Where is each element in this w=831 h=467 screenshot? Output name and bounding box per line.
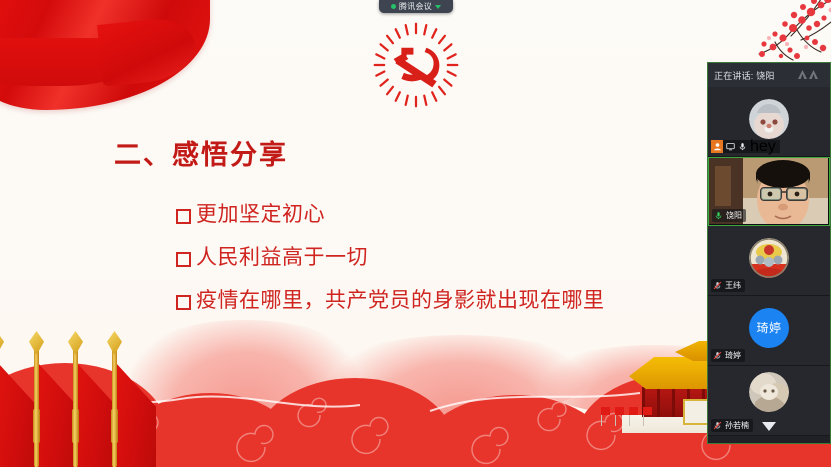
mic-muted-icon: [713, 351, 722, 360]
slide-bullet-list: 更加坚定初心 人民利益高于一切 疫情在哪里，共产党员的身影就出现在哪里: [176, 200, 606, 329]
participant-tile[interactable]: 饶阳: [708, 157, 830, 226]
participant-badge: 王纬: [711, 279, 745, 292]
meeting-screen-share-window: 二、感悟分享 更加坚定初心 人民利益高于一切 疫情在哪里，共产党员的身影就出现在…: [0, 0, 831, 467]
red-flag-banner-decoration: [0, 0, 210, 110]
participant-badge: 孙若楠: [711, 419, 753, 432]
participant-tile[interactable]: 孙若楠: [708, 366, 830, 436]
bullet-square-icon: [176, 252, 191, 267]
chevron-down-icon[interactable]: [435, 5, 441, 9]
participant-name: 孙若楠: [725, 422, 749, 430]
communist-party-emblem-icon: [373, 22, 459, 108]
avatar: [749, 99, 789, 139]
list-item: 人民利益高于一切: [176, 243, 606, 273]
mic-on-icon: [738, 142, 747, 151]
avatar: 琦婷: [749, 308, 789, 348]
avatar: [749, 238, 789, 278]
participant-name: 饶阳: [726, 212, 742, 220]
meeting-app-label: 腾讯会议: [399, 3, 432, 11]
sound-wave-icon: [798, 70, 818, 79]
participant-name: 琦婷: [725, 352, 741, 360]
participant-name: hey: [750, 138, 776, 156]
bullet-text: 疫情在哪里，共产党员的身影就出现在哪里: [196, 286, 606, 316]
meeting-floating-toolbar[interactable]: 腾讯会议: [379, 0, 453, 13]
list-item: 疫情在哪里，共产党员的身影就出现在哪里: [176, 286, 606, 316]
participant-badge: 琦婷: [711, 349, 745, 362]
participant-tile[interactable]: 琦婷 琦婷: [708, 296, 830, 366]
screen-share-icon: [726, 142, 735, 151]
slide-heading: 二、感悟分享: [114, 133, 288, 172]
list-item: 更加坚定初心: [176, 200, 606, 230]
participant-video-panel[interactable]: 正在讲话: 饶阳: [707, 62, 831, 444]
participant-badge: hey: [711, 140, 780, 153]
red-flags-decoration: [0, 307, 185, 467]
participant-badge: 饶阳: [712, 209, 746, 222]
bullet-text: 人民利益高于一切: [196, 243, 606, 273]
active-speaker-label: 正在讲话: 饶阳: [714, 69, 775, 82]
bullet-square-icon: [176, 209, 191, 224]
mic-muted-icon: [713, 421, 722, 430]
participant-tile[interactable]: hey: [708, 87, 830, 157]
mic-muted-icon: [713, 281, 722, 290]
chevron-down-icon[interactable]: [762, 422, 776, 431]
mic-active-icon: [714, 211, 723, 220]
participant-tile[interactable]: 王纬: [708, 226, 830, 296]
participant-name: 王纬: [725, 282, 741, 290]
active-speaker-header: 正在讲话: 饶阳: [708, 63, 830, 87]
recording-dot-icon: [391, 4, 396, 9]
avatar: [749, 372, 789, 412]
host-person-icon: [711, 140, 723, 153]
bullet-text: 更加坚定初心: [196, 200, 606, 230]
